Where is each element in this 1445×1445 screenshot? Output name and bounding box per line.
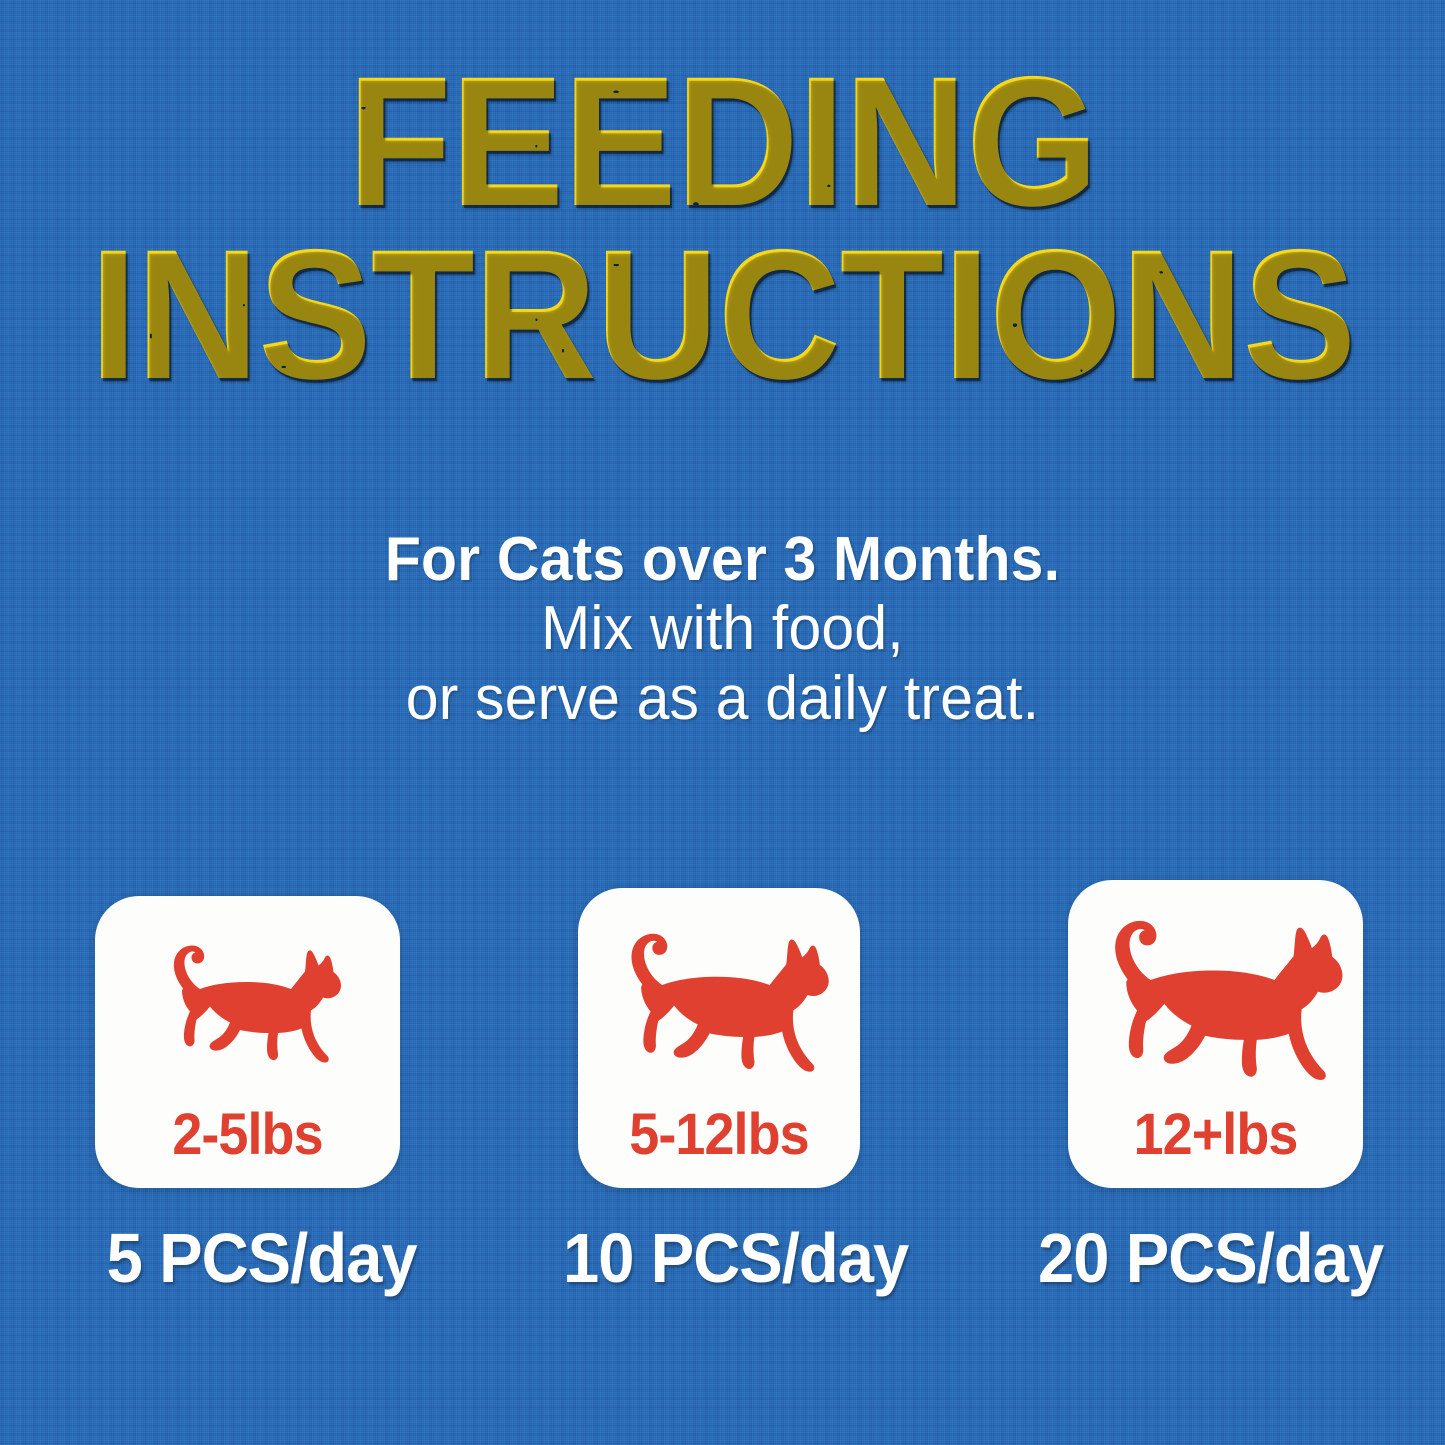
cat-silhouette-icon bbox=[1080, 902, 1352, 1088]
cat-silhouette-icon bbox=[148, 932, 348, 1068]
weight-label: 5-12lbs bbox=[588, 1101, 850, 1168]
dose-label-small: 5 PCS/day bbox=[107, 1218, 417, 1298]
weight-card-large: 12+lbs bbox=[1068, 880, 1363, 1188]
weight-card-medium: 5-12lbs bbox=[578, 888, 860, 1188]
feeding-instructions-poster: FEEDING INSTRUCTIONS For Cats over 3 Mon… bbox=[0, 0, 1445, 1445]
weight-card-small: 2-5lbs bbox=[95, 896, 400, 1188]
weight-label: 12+lbs bbox=[1078, 1101, 1352, 1168]
weight-label: 2-5lbs bbox=[106, 1101, 390, 1168]
dose-label-large: 20 PCS/day bbox=[1038, 1218, 1383, 1298]
cat-silhouette-icon bbox=[601, 918, 837, 1078]
dose-label-medium: 10 PCS/day bbox=[563, 1218, 908, 1298]
